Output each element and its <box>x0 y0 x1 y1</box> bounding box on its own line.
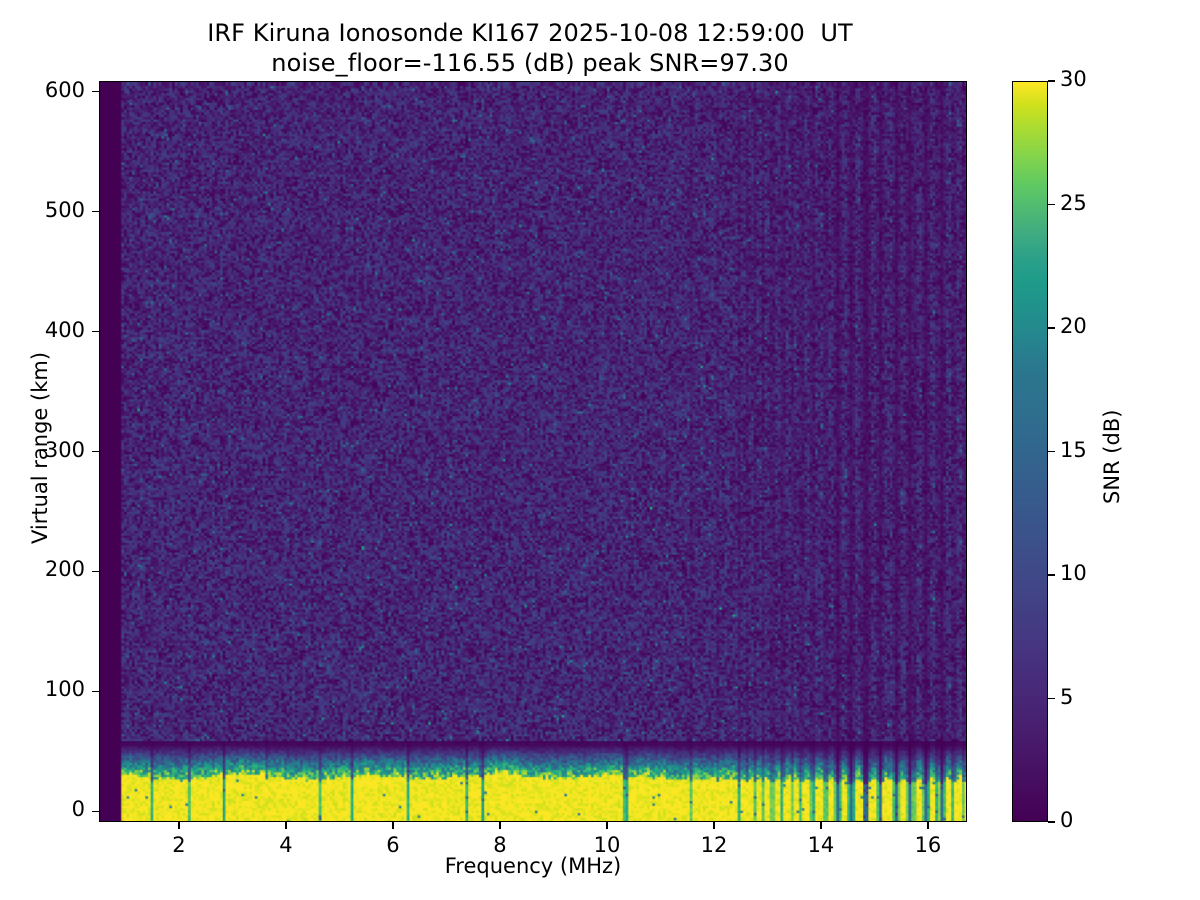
colorbar-label: SNR (dB) <box>1100 409 1124 503</box>
y-tick-mark <box>92 451 99 452</box>
x-tick-mark <box>392 822 393 829</box>
y-tick-mark <box>92 211 99 212</box>
y-tick-mark <box>92 811 99 812</box>
chart-title: IRF Kiruna Ionosonde KI167 2025-10-08 12… <box>0 18 1060 78</box>
y-axis-label: Virtual range (km) <box>28 351 52 543</box>
colorbar-tick-mark <box>1048 574 1055 575</box>
y-tick-mark <box>92 691 99 692</box>
colorbar-tick-mark <box>1048 821 1055 822</box>
y-tick-label: 400 <box>1 318 85 342</box>
colorbar-tick-label: 25 <box>1060 191 1087 215</box>
plot-area <box>99 81 967 822</box>
y-tick-mark <box>92 571 99 572</box>
colorbar-tick-label: 5 <box>1060 685 1073 709</box>
colorbar-tick-mark <box>1048 327 1055 328</box>
colorbar-tick-mark <box>1048 80 1055 81</box>
y-tick-label: 0 <box>1 797 85 821</box>
x-tick-mark <box>499 822 500 829</box>
x-tick-mark <box>927 822 928 829</box>
colorbar <box>1012 81 1048 822</box>
ionogram-heatmap <box>100 82 966 821</box>
ionogram-figure: IRF Kiruna Ionosonde KI167 2025-10-08 12… <box>0 0 1200 900</box>
x-tick-mark <box>606 822 607 829</box>
chart-title-line-1: IRF Kiruna Ionosonde KI167 2025-10-08 12… <box>0 18 1060 48</box>
y-tick-mark <box>92 331 99 332</box>
x-tick-mark <box>285 822 286 829</box>
colorbar-tick-mark <box>1048 204 1055 205</box>
colorbar-tick-mark <box>1048 698 1055 699</box>
x-tick-mark <box>178 822 179 829</box>
colorbar-tick-label: 30 <box>1060 67 1087 91</box>
x-axis-label: Frequency (MHz) <box>99 854 967 878</box>
colorbar-tick-label: 0 <box>1060 808 1073 832</box>
chart-title-line-2: noise_floor=-116.55 (dB) peak SNR=97.30 <box>0 48 1060 78</box>
colorbar-tick-label: 20 <box>1060 314 1087 338</box>
colorbar-tick-label: 10 <box>1060 561 1087 585</box>
x-tick-mark <box>820 822 821 829</box>
y-tick-label: 200 <box>1 557 85 581</box>
colorbar-tick-label: 15 <box>1060 438 1087 462</box>
y-tick-label: 600 <box>1 78 85 102</box>
x-tick-mark <box>713 822 714 829</box>
colorbar-tick-mark <box>1048 451 1055 452</box>
y-tick-label: 100 <box>1 677 85 701</box>
y-tick-mark <box>92 91 99 92</box>
y-tick-label: 500 <box>1 198 85 222</box>
